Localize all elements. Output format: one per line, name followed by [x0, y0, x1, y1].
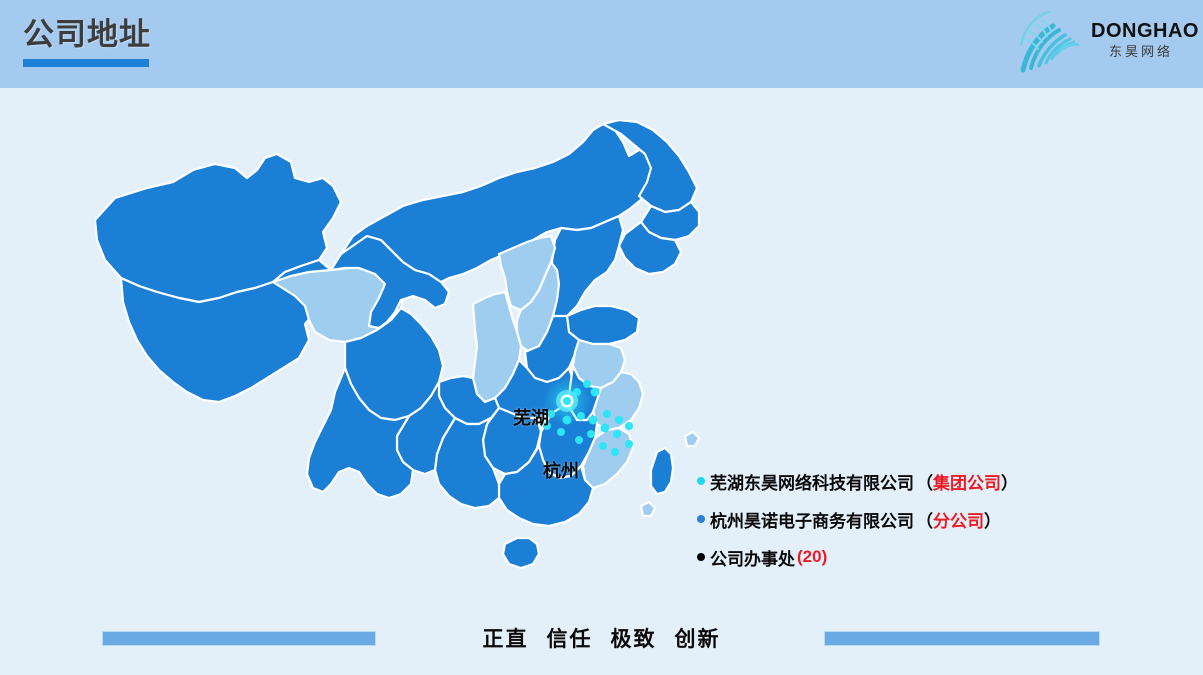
legend-dot-icon: [697, 515, 705, 523]
office-dot: [589, 416, 598, 425]
logo-name-cn: 东昊网络: [1091, 43, 1191, 61]
city-label-wuhu: 芜湖: [513, 404, 549, 430]
legend-item-offices: 公司办事处 (20): [697, 538, 1117, 576]
slogan-word: 正直: [483, 628, 529, 651]
title-underline: [23, 59, 149, 67]
title-block: 公司地址: [23, 16, 151, 67]
legend-dot-icon: [697, 553, 705, 561]
headquarters-marker: [543, 377, 591, 425]
region-taiwan: [651, 448, 673, 494]
office-dot: [613, 430, 621, 438]
logo-text: DONGHAO 东昊网络: [1091, 20, 1191, 61]
china-map: 芜湖 杭州: [95, 120, 715, 620]
office-dot: [575, 436, 583, 444]
company-logo: DONGHAO 东昊网络: [1013, 6, 1193, 78]
office-dot: [591, 388, 600, 397]
legend-tag-open: （: [916, 474, 933, 493]
office-dot: [601, 424, 610, 433]
legend-tag-highlight: 集团公司: [933, 474, 1001, 493]
slogan-word: 创新: [675, 628, 721, 651]
legend-label: 芜湖东昊网络科技有限公司: [710, 469, 914, 494]
legend-tag-close: ）: [984, 512, 1001, 531]
office-dot: [625, 440, 633, 448]
legend-tag: （集团公司）: [916, 469, 1018, 494]
legend-tag: (20): [797, 547, 827, 567]
legend-item-branch-company: 杭州昊诺电子商务有限公司 （分公司）: [697, 500, 1117, 538]
legend-label: 杭州昊诺电子商务有限公司: [710, 507, 914, 532]
slogan-word: 极致: [611, 628, 657, 651]
office-dot: [557, 428, 565, 436]
office-dot: [599, 442, 607, 450]
china-map-svg: [95, 120, 715, 620]
office-dot: [611, 448, 619, 456]
legend-tag-open: （: [916, 512, 933, 531]
region-hainan: [503, 538, 539, 568]
legend-item-group-company: 芜湖东昊网络科技有限公司 （集团公司）: [697, 462, 1117, 500]
slogan-word: 信任: [547, 628, 593, 651]
office-dot: [603, 410, 611, 418]
office-dot: [587, 430, 595, 438]
feather-wing-icon: [1015, 8, 1091, 76]
legend-tag-highlight: 分公司: [933, 512, 984, 531]
legend-dot-icon: [697, 477, 705, 485]
legend-tag: （分公司）: [916, 507, 1001, 532]
map-legend: 芜湖东昊网络科技有限公司 （集团公司） 杭州昊诺电子商务有限公司 （分公司） 公…: [697, 462, 1117, 576]
logo-name-en: DONGHAO: [1091, 20, 1191, 42]
legend-label: 公司办事处: [710, 545, 795, 570]
office-dot: [625, 422, 633, 430]
city-label-hangzhou: 杭州: [543, 457, 579, 483]
legend-tag-close: ）: [1001, 474, 1018, 493]
office-dot: [615, 416, 623, 424]
region-island-2: [641, 502, 655, 516]
footer-slogan: 正直信任极致创新: [0, 623, 1203, 653]
region-island-1: [685, 432, 699, 446]
page-title: 公司地址: [23, 16, 151, 54]
page-header: 公司地址: [0, 0, 1203, 88]
legend-tag-highlight: (20): [797, 547, 827, 566]
